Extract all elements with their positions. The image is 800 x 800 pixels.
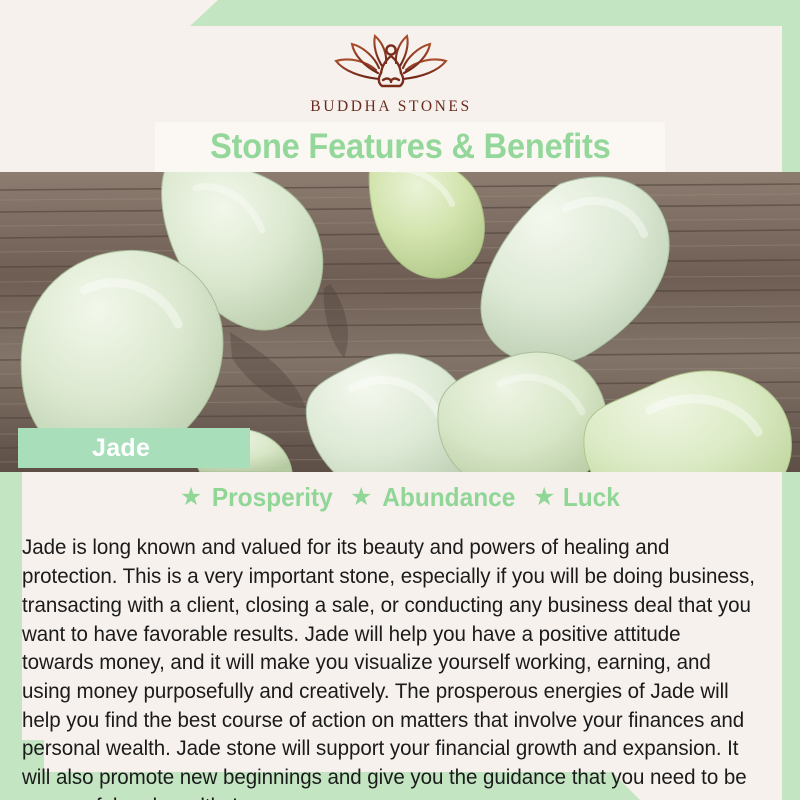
benefit-item-abundance: ★ Abundance [350, 482, 520, 513]
benefit-label: Abundance [383, 482, 516, 513]
brand-wordmark: BUDDHA STONES [310, 98, 471, 116]
stone-description: Jade is long known and valued for its be… [22, 533, 757, 800]
stone-name-banner: Jade [18, 428, 250, 468]
benefits-row: ★ Prosperity ★ Abundance ★ Luck [22, 480, 780, 514]
star-icon: ★ [350, 485, 372, 510]
star-icon: ★ [180, 485, 202, 510]
benefit-item-prosperity: ★ Prosperity [180, 482, 337, 513]
page-title: Stone Features & Benefits [210, 127, 611, 167]
star-icon: ★ [533, 485, 555, 510]
frame-band-top [0, 0, 800, 26]
stone-name-label: Jade [92, 434, 150, 463]
title-banner: Stone Features & Benefits [155, 122, 665, 172]
stone-photo [0, 172, 800, 472]
brand-header: BUDDHA STONES [0, 26, 782, 122]
benefit-item-luck: ★ Luck [533, 482, 622, 513]
benefit-label: Prosperity [212, 482, 333, 513]
lotus-meditation-icon [316, 33, 466, 95]
benefit-label: Luck [563, 482, 620, 513]
infographic-card: BUDDHA STONES Stone Features & Benefits [0, 0, 800, 800]
